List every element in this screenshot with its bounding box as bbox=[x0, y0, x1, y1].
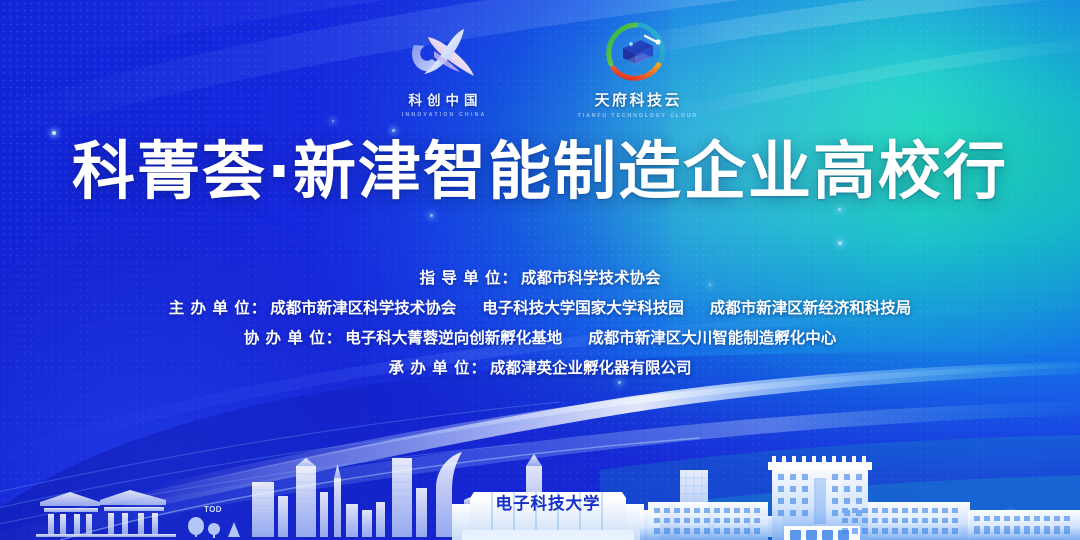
sparkle-dot bbox=[430, 214, 433, 217]
organization-value: 成都市新津区大川智能制造孵化中心 bbox=[588, 326, 836, 348]
sparkle-dot bbox=[838, 208, 841, 211]
organization-row: 协办单位 ： 电子科大菁蓉逆向创新孵化基地 成都市新津区大川智能制造孵化中心 bbox=[244, 326, 837, 348]
organization-row: 指导单位 ： 成都市科学技术协会 bbox=[419, 266, 660, 288]
logo-name-cn: 天府科技云 bbox=[592, 89, 682, 110]
organization-row: 主办单位 ： 成都市新津区科学技术协会 电子科技大学国家大学科技园 成都市新津区… bbox=[169, 296, 912, 318]
logo-name-en: TIANFU TECHNOLOGY CLOUD bbox=[576, 113, 698, 119]
sparkle-dot bbox=[838, 241, 842, 245]
organization-value: 电子科大菁蓉逆向创新孵化基地 bbox=[345, 326, 562, 348]
logo-tianfu-keji-yun: 天府科技云 TIANFU TECHNOLOGY CLOUD bbox=[571, 22, 703, 119]
organization-row: 承办单位 ： 成都津英企业孵化器有限公司 bbox=[388, 356, 691, 378]
organization-separator: ： bbox=[251, 296, 267, 318]
organization-value: 电子科技大学国家大学科技园 bbox=[482, 296, 684, 318]
organization-value: 成都津英企业孵化器有限公司 bbox=[490, 356, 692, 378]
organization-label: 指导单位 bbox=[419, 266, 501, 288]
bird-swoosh-icon bbox=[404, 22, 482, 84]
sparkle-dot bbox=[618, 381, 621, 384]
organization-list: 指导单位 ： 成都市科学技术协会 主办单位 ： 成都市新津区科学技术协会 电子科… bbox=[0, 266, 1080, 378]
organization-separator: ： bbox=[326, 326, 342, 348]
logo-name-cn: 科创中国 bbox=[404, 89, 483, 109]
organization-value: 成都市科学技术协会 bbox=[521, 266, 661, 288]
organization-separator: ： bbox=[470, 356, 486, 378]
sparkle-dot bbox=[52, 131, 56, 135]
logo-row: 科创中国 INNOVATION CHINA bbox=[0, 22, 1080, 130]
organization-value: 成都市新津区新经济和科技局 bbox=[710, 296, 912, 318]
circle-ring-cloud-icon bbox=[601, 22, 673, 84]
uestc-building-label: 电子科技大学 bbox=[478, 490, 618, 514]
city-skyline: 电子科技大学 TOD bbox=[0, 430, 1080, 540]
organization-separator: ： bbox=[501, 266, 517, 288]
page-title: 科菁荟·新津智能制造企业高校行 bbox=[0, 140, 1080, 203]
logo-name-en: INNOVATION CHINA bbox=[400, 112, 487, 118]
logo-kechuang-zhongguo: 科创中国 INNOVATION CHINA bbox=[377, 22, 509, 118]
tod-label: TOD bbox=[204, 505, 222, 514]
organization-label: 主办单位 bbox=[169, 296, 251, 318]
organization-value: 成都市新津区科学技术协会 bbox=[270, 296, 456, 318]
organization-label: 协办单位 bbox=[244, 326, 326, 348]
poster-canvas: 科创中国 INNOVATION CHINA bbox=[0, 0, 1080, 540]
organization-label: 承办单位 bbox=[388, 356, 470, 378]
